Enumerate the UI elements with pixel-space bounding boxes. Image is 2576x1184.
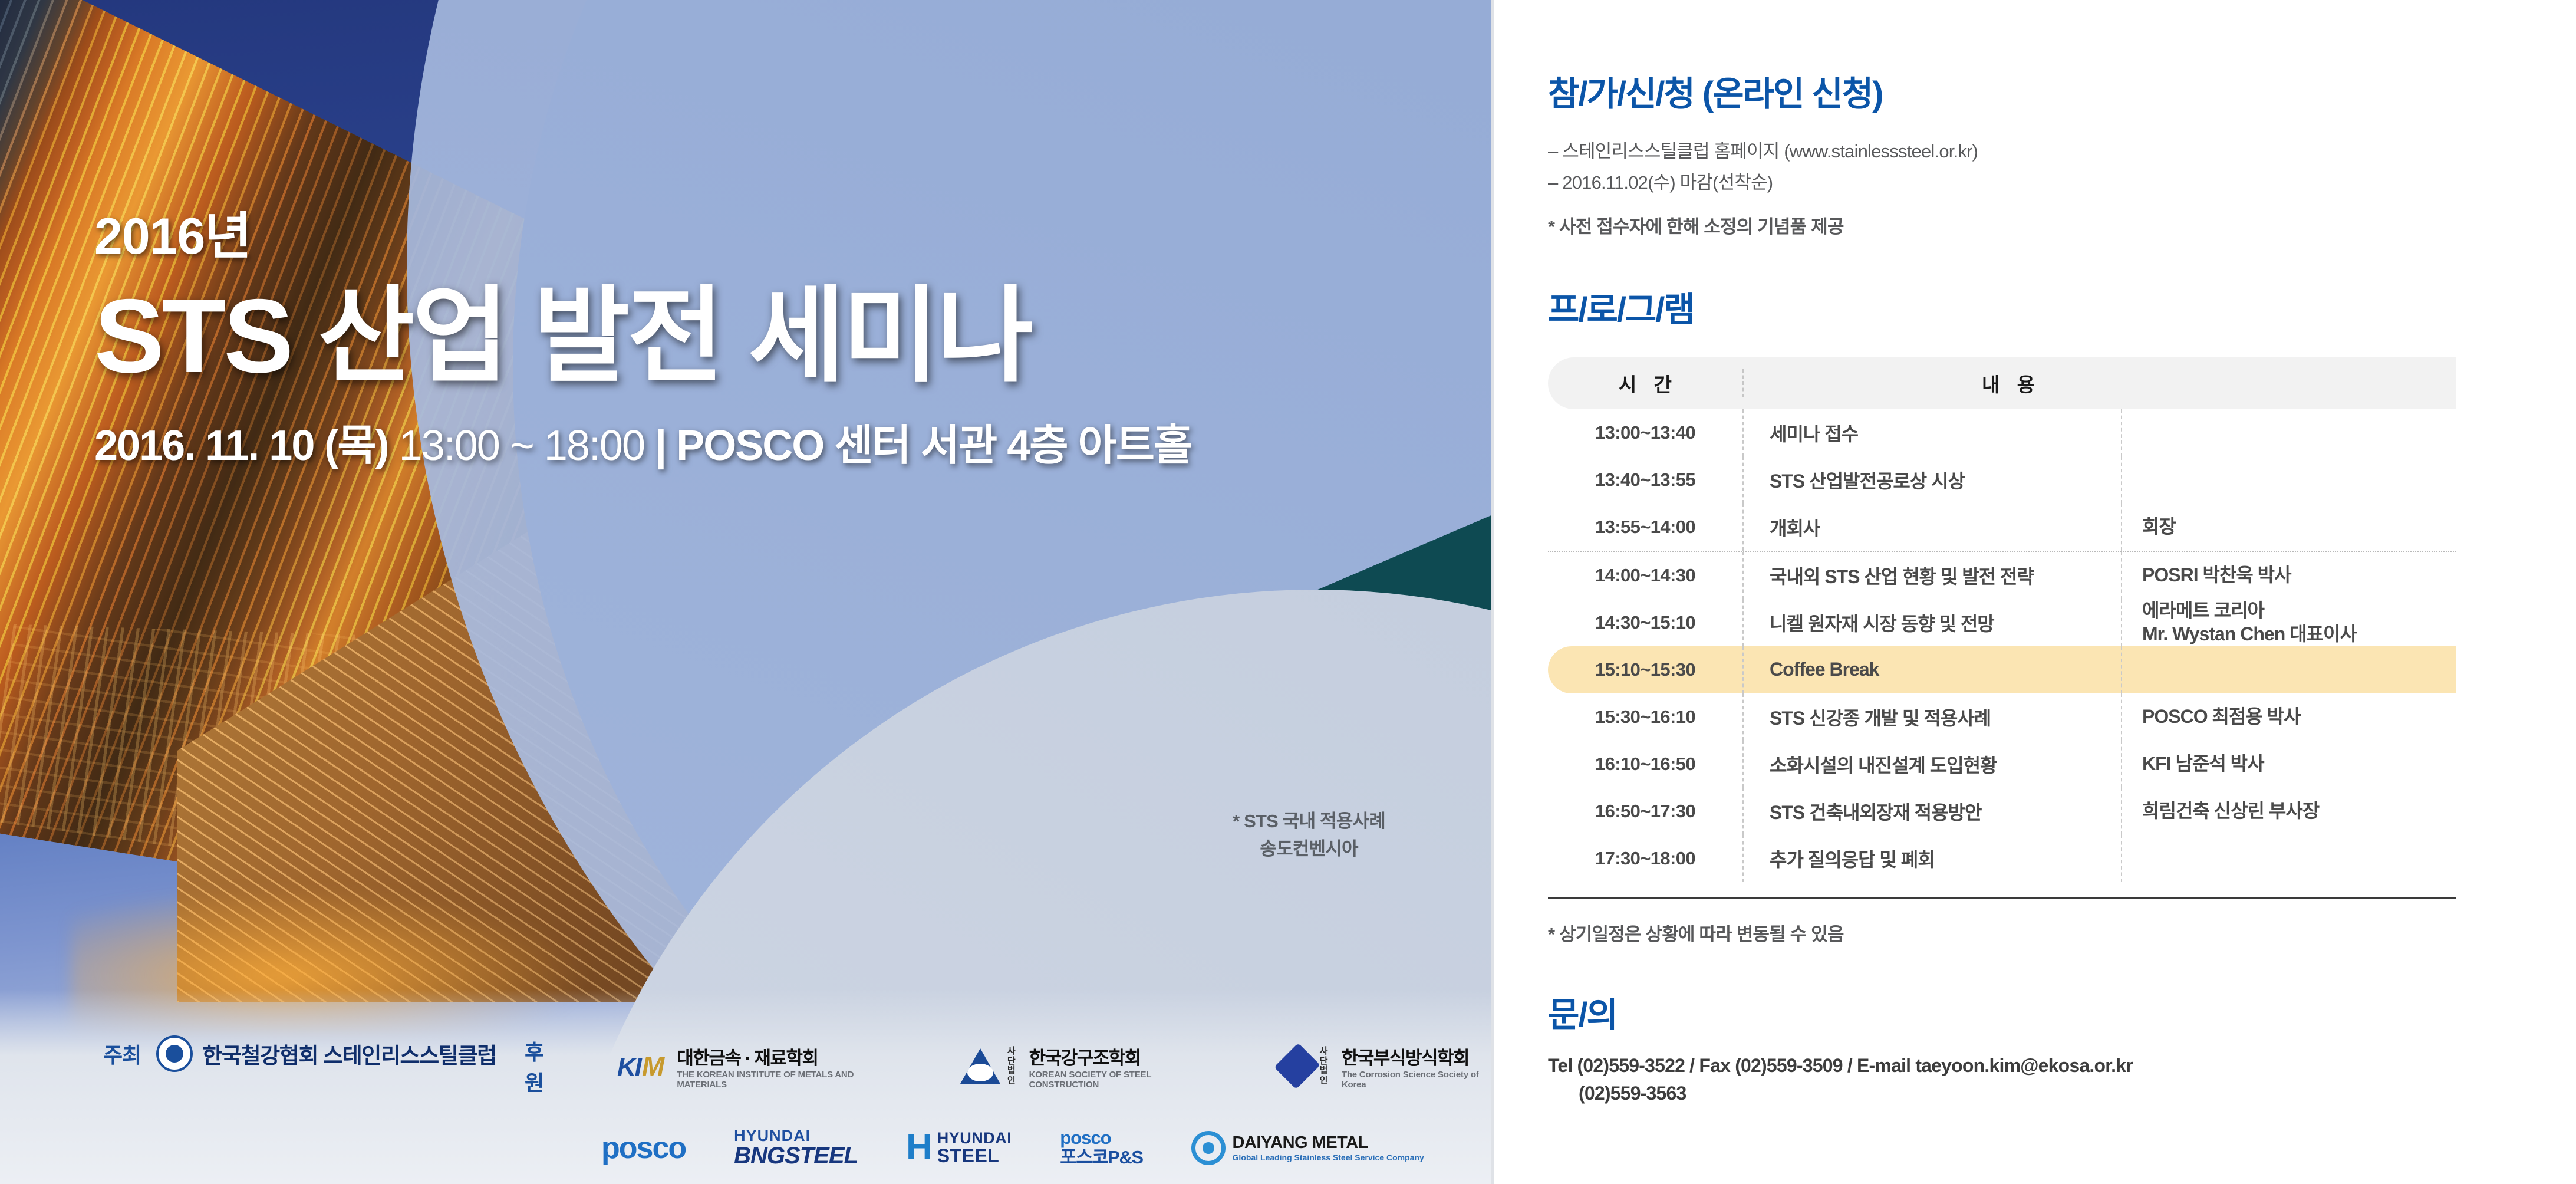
row-speaker: 희림건축 신상린 부사장 — [2122, 800, 2456, 823]
registration-bullets: – 스테인리스스틸클럽 홈페이지 (www.stainlesssteel.or.… — [1548, 136, 2519, 199]
hyundai-steel-logo: H HYUNDAI STEEL — [906, 1130, 1012, 1166]
hero-subtitle-date: 2016. 11. 10 (목) — [94, 422, 388, 469]
sponsor-host-row: 주최 한국철강협회 스테인리스스틸클럽 — [103, 1035, 496, 1072]
row-time: 15:30~16:10 — [1548, 706, 1742, 728]
row-speaker: KFI 남준석 박사 — [2122, 752, 2456, 776]
row-separator-right — [2121, 456, 2122, 504]
society-cssk-name-ko: 한국부식방식학회 — [1342, 1043, 1491, 1070]
posco-pns-text-1: posco — [1060, 1129, 1142, 1148]
host-label: 주최 — [103, 1038, 141, 1069]
hero-subtitle-divider: | — [655, 422, 666, 469]
sponsor-support-row: 후원 KI M 대한금속 · 재료학회 THE KOREAN INSTITUTE… — [525, 1035, 1491, 1097]
registration-heading: 참/가/신/청 (온라인 신청) — [1548, 66, 2519, 116]
hero-panel: 2016년 STS 산업 발전 세미나 2016. 11. 10 (목) 13:… — [0, 0, 1491, 1184]
hero-subtitle-venue: POSCO 센터 서관 4층 아트홀 — [676, 422, 1191, 469]
posco-logo: posco — [601, 1130, 686, 1166]
sponsor-strip: 주최 한국철강협회 스테인리스스틸클럽 후원 KI M 대한금속 · 재료학회 … — [0, 1007, 1491, 1184]
row-time: 14:00~14:30 — [1548, 565, 1742, 586]
cssk-prefix-1: 사단 — [1320, 1047, 1335, 1066]
hero-title: STS 산업 발전 세미나 — [94, 281, 1191, 390]
cssk-diamond-icon — [1274, 1043, 1320, 1089]
row-separator-right — [2121, 646, 2122, 693]
daiyang-metal-logo: DAIYANG METAL Global Leading Stainless S… — [1191, 1131, 1424, 1165]
contact-line-primary: Tel (02)559-3522 / Fax (02)559-3509 / E-… — [1548, 1052, 2519, 1080]
hero-subtitle: 2016. 11. 10 (목) 13:00 ~ 18:00 | POSCO 센… — [94, 410, 1191, 472]
row-time: 13:55~14:00 — [1548, 517, 1742, 538]
registration-note: * 사전 접수자에 한해 소정의 기념품 제공 — [1548, 212, 2519, 238]
daiyang-tagline: Global Leading Stainless Steel Service C… — [1233, 1153, 1424, 1162]
bng-bottom-text: BNGSTEEL — [734, 1144, 858, 1167]
kssc-triangle-icon — [960, 1048, 1000, 1084]
row-separator-right — [2121, 835, 2122, 882]
society-kssc-name-en: KOREAN SOCIETY OF STEEL CONSTRUCTION — [1029, 1070, 1204, 1090]
bng-top-text: HYUNDAI — [734, 1128, 858, 1144]
program-table-bottom-rule — [1548, 897, 2456, 899]
cssk-prefix: 사단 법인 — [1320, 1047, 1335, 1086]
seminar-poster: 2016년 STS 산업 발전 세미나 2016. 11. 10 (목) 13:… — [0, 0, 2576, 1184]
daiyang-target-icon — [1191, 1131, 1226, 1165]
contact-line-secondary: (02)559-3563 — [1548, 1080, 2519, 1107]
contact-heading: 문/의 — [1548, 987, 2519, 1037]
daiyang-name: DAIYANG METAL — [1233, 1133, 1424, 1153]
hyundai-steel-text-2: STEEL — [937, 1146, 1012, 1166]
table-row: 17:30~18:00추가 질의응답 및 폐회 — [1548, 835, 2456, 882]
society-kssc: 사단 법인 한국강구조학회 KOREAN SOCIETY OF STEEL CO… — [960, 1043, 1204, 1090]
registration-bullet-homepage: – 스테인리스스틸클럽 홈페이지 (www.stainlesssteel.or.… — [1548, 136, 2519, 167]
kim-ki-text: KI — [617, 1053, 641, 1082]
program-table: 시 간 내 용 13:00~13:40세미나 접수13:40~13:55STS … — [1548, 357, 2456, 946]
bng-steel-logo: HYUNDAI BNGSTEEL — [734, 1128, 858, 1167]
hyundai-steel-text-1: HYUNDAI — [937, 1130, 1012, 1146]
table-row: 16:50~17:30STS 건축내외장재 적용방안희림건축 신상린 부사장 — [1548, 788, 2456, 835]
hero-subtitle-time: 13:00 ~ 18:00 — [399, 422, 644, 469]
column-header-time: 시 간 — [1548, 369, 1742, 397]
row-content: 세미나 접수 — [1744, 419, 2121, 446]
row-content: 국내외 STS 산업 현황 및 발전 전략 — [1744, 562, 2121, 589]
program-note: * 상기일정은 상황에 따라 변동될 수 있음 — [1548, 919, 2456, 946]
row-speaker: 에라메트 코리아 Mr. Wystan Chen 대표이사 — [2122, 599, 2456, 646]
row-content: Coffee Break — [1744, 659, 2121, 680]
photo-caption-line2: 송도컨벤시아 — [1233, 836, 1385, 863]
registration-bullet-deadline: – 2016.11.02(수) 마감(선착순) — [1548, 167, 2519, 198]
table-row: 14:00~14:30국내외 STS 산업 현황 및 발전 전략POSRI 박찬… — [1548, 552, 2456, 599]
posco-pns-logo: posco 포스코P&S — [1060, 1129, 1142, 1167]
cssk-prefix-2: 법인 — [1320, 1066, 1335, 1086]
contact-block: Tel (02)559-3522 / Fax (02)559-3509 / E-… — [1548, 1052, 2519, 1108]
row-time: 14:30~15:10 — [1548, 612, 1742, 633]
society-cssk-name-en: The Corrosion Science Society of Korea — [1342, 1070, 1491, 1090]
row-content: 니켈 원자재 시장 동향 및 전망 — [1744, 609, 2121, 636]
hyundai-steel-h-icon: H — [906, 1132, 933, 1163]
row-time: 13:00~13:40 — [1548, 422, 1742, 443]
company-logo-row: posco HYUNDAI BNGSTEEL H HYUNDAI STEEL p… — [601, 1128, 1424, 1167]
support-label: 후원 — [525, 1035, 559, 1097]
table-row: 13:00~13:40세미나 접수 — [1548, 409, 2456, 456]
kssc-prefix-1: 사단 — [1007, 1047, 1022, 1066]
row-content: 소화시설의 내진설계 도입현황 — [1744, 751, 2121, 778]
kssc-prefix: 사단 법인 — [1007, 1047, 1022, 1086]
host-name: 한국철강협회 스테인리스스틸클럽 — [202, 1038, 496, 1070]
row-time: 16:10~16:50 — [1548, 754, 1742, 775]
photo-caption: * STS 국내 적용사례 송도컨벤시아 — [1233, 808, 1385, 863]
row-content: 개회사 — [1744, 514, 2121, 541]
korea-iron-steel-association-seal-icon — [156, 1035, 193, 1072]
row-speaker: POSRI 박찬욱 박사 — [2122, 564, 2456, 587]
program-table-header: 시 간 내 용 — [1548, 357, 2456, 409]
row-separator-right — [2121, 409, 2122, 456]
row-content: STS 건축내외장재 적용방안 — [1744, 798, 2121, 825]
society-kim-name-ko: 대한금속 · 재료학회 — [677, 1043, 882, 1070]
row-speaker: POSCO 최점용 박사 — [2122, 705, 2456, 729]
row-speaker: 회장 — [2122, 515, 2456, 539]
photo-caption-line1: * STS 국내 적용사례 — [1233, 808, 1385, 836]
row-time: 15:10~15:30 — [1548, 659, 1742, 680]
row-time: 13:40~13:55 — [1548, 469, 1742, 491]
society-kssc-name-ko: 한국강구조학회 — [1029, 1043, 1204, 1070]
kim-logo-icon: KI M — [617, 1050, 663, 1082]
table-row: 14:30~15:10니켈 원자재 시장 동향 및 전망에라메트 코리아 Mr.… — [1548, 599, 2456, 646]
row-content: STS 신강종 개발 및 적용사례 — [1744, 703, 2121, 731]
table-row: 13:55~14:00개회사회장 — [1548, 504, 2456, 551]
hero-year: 2016년 — [94, 195, 1191, 268]
hero-text-block: 2016년 STS 산업 발전 세미나 2016. 11. 10 (목) 13:… — [94, 195, 1191, 472]
row-content: STS 산업발전공로상 시상 — [1744, 466, 2121, 494]
society-kim: KI M 대한금속 · 재료학회 THE KOREAN INSTITUTE OF… — [617, 1043, 882, 1090]
kssc-prefix-2: 법인 — [1007, 1066, 1022, 1086]
table-row: 16:10~16:50소화시설의 내진설계 도입현황KFI 남준석 박사 — [1548, 741, 2456, 788]
society-cssk: 사단 법인 한국부식방식학회 The Corrosion Science Soc… — [1282, 1043, 1491, 1090]
society-kim-name-en: THE KOREAN INSTITUTE OF METALS AND MATER… — [677, 1070, 882, 1090]
program-heading: 프/로/그/램 — [1548, 282, 2519, 331]
row-content: 추가 질의응답 및 폐회 — [1744, 845, 2121, 872]
column-header-content: 내 용 — [1744, 369, 2456, 397]
table-row: 13:40~13:55STS 산업발전공로상 시상 — [1548, 456, 2456, 504]
table-row: 15:10~15:30Coffee Break — [1548, 646, 2456, 693]
panel-divider — [1491, 0, 1494, 1184]
info-panel: 참/가/신/청 (온라인 신청) – 스테인리스스틸클럽 홈페이지 (www.s… — [1491, 0, 2576, 1184]
row-time: 16:50~17:30 — [1548, 801, 1742, 822]
table-row: 15:30~16:10STS 신강종 개발 및 적용사례POSCO 최점용 박사 — [1548, 693, 2456, 741]
row-time: 17:30~18:00 — [1548, 848, 1742, 869]
posco-pns-text-2: 포스코P&S — [1060, 1148, 1142, 1167]
kim-m-text: M — [642, 1050, 663, 1082]
program-table-body: 13:00~13:40세미나 접수13:40~13:55STS 산업발전공로상 … — [1548, 409, 2456, 882]
